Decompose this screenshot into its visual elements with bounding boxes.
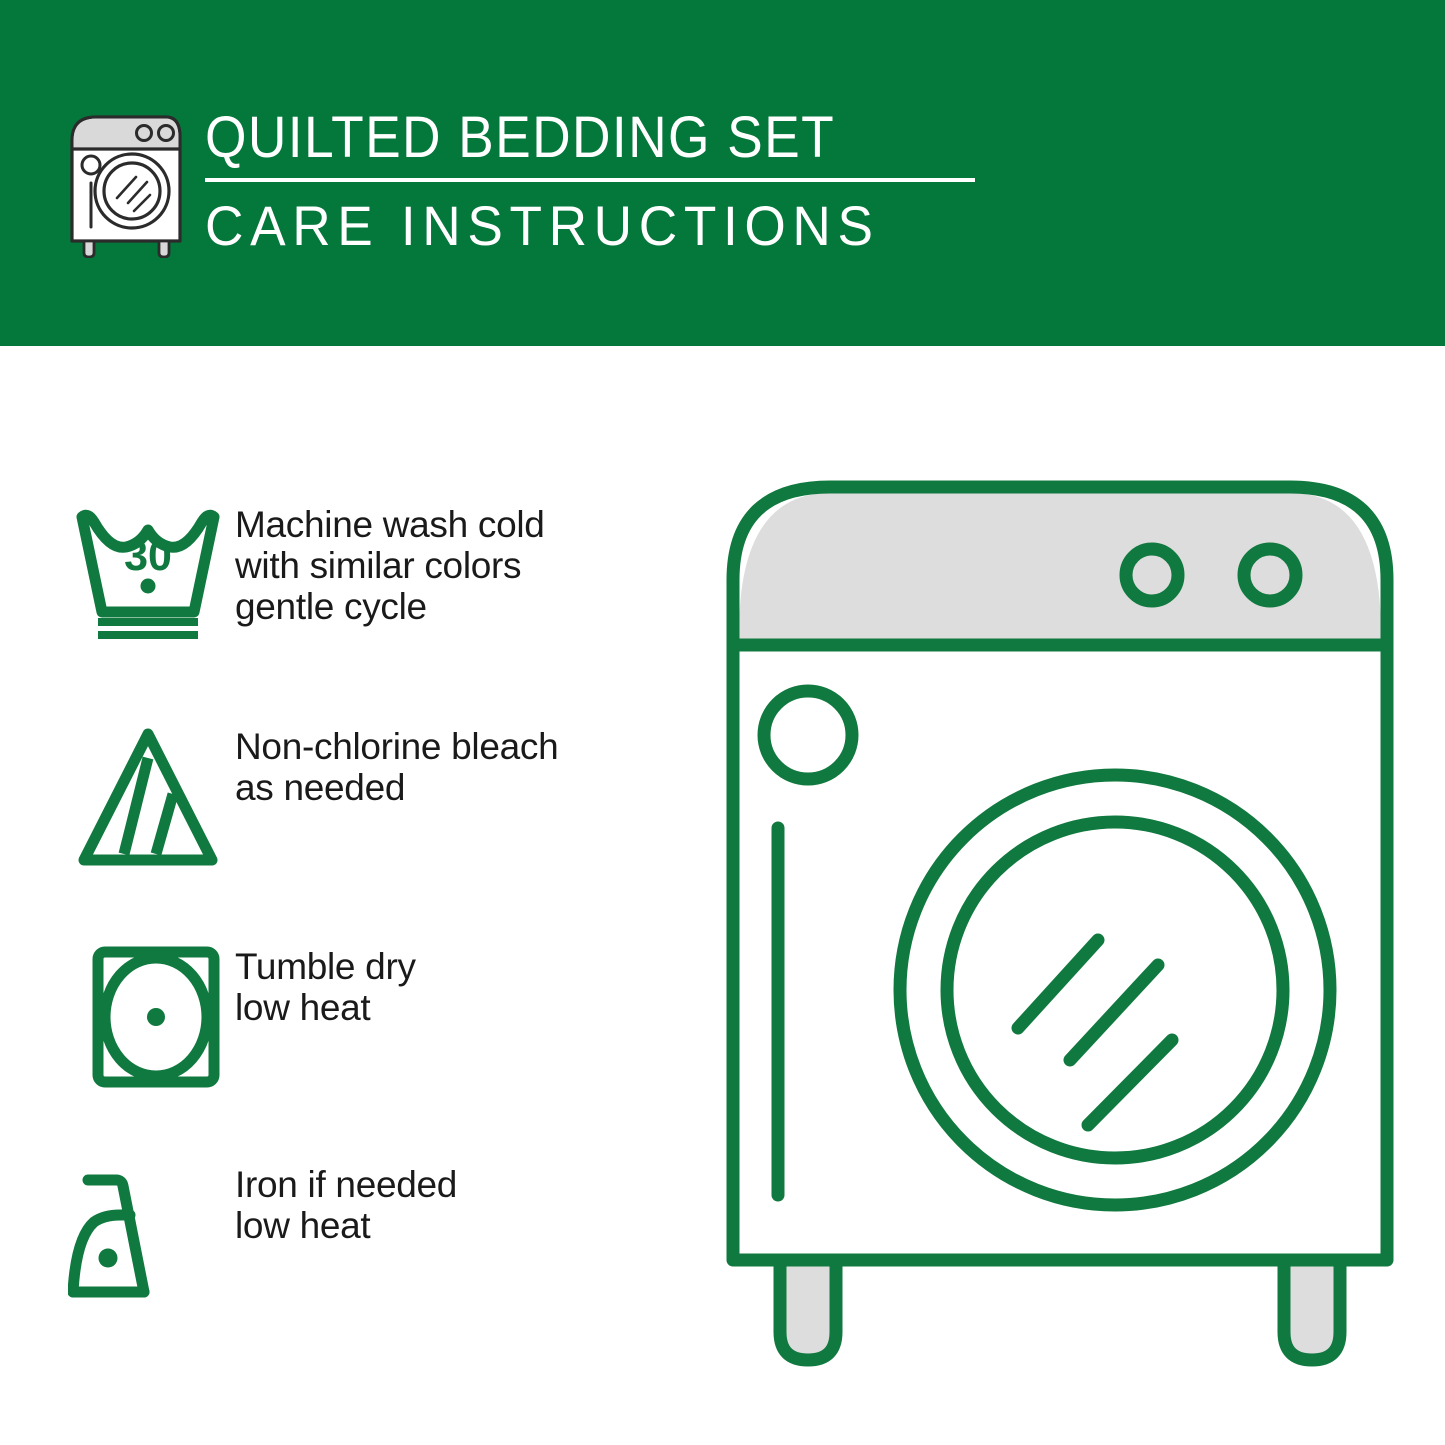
door-outer-ring <box>900 775 1330 1205</box>
care-text-line: Iron if needed <box>235 1164 700 1205</box>
door-reflection-line <box>1070 965 1158 1060</box>
leg-left <box>780 1260 836 1360</box>
door-inner-ring <box>947 822 1283 1158</box>
header-banner: QUILTED BEDDING SET CARE INSTRUCTIONS <box>0 0 1445 346</box>
header-text-block: QUILTED BEDDING SET CARE INSTRUCTIONS <box>205 102 995 258</box>
care-text-tumble-dry: Tumble dry low heat <box>235 942 700 1028</box>
care-row-bleach: Non-chlorine bleach as needed <box>60 722 700 872</box>
washing-machine-logo-icon <box>62 103 190 258</box>
page-subtitle: CARE INSTRUCTIONS <box>205 194 956 258</box>
svg-text:30: 30 <box>124 532 172 580</box>
tumble-dry-icon <box>60 942 235 1092</box>
care-text-line: Non-chlorine bleach <box>235 726 700 767</box>
care-text-line: as needed <box>235 767 700 808</box>
leg-right <box>1284 1260 1340 1360</box>
bleach-triangle-icon <box>60 722 235 872</box>
care-text-iron: Iron if needed low heat <box>235 1160 700 1246</box>
care-text-line: Tumble dry <box>235 946 700 987</box>
care-text-line: low heat <box>235 1205 700 1246</box>
care-text-line: with similar colors <box>235 545 700 586</box>
door-reflection-line <box>1088 1040 1172 1125</box>
care-text-line: gentle cycle <box>235 586 700 627</box>
care-text-bleach: Non-chlorine bleach as needed <box>235 722 700 808</box>
page-title: QUILTED BEDDING SET <box>205 102 932 174</box>
care-text-line: low heat <box>235 987 700 1028</box>
detergent-port <box>764 691 852 779</box>
care-row-machine-wash: 30 Machine wash cold with similar colors… <box>60 500 700 640</box>
control-panel-fill <box>739 493 1381 645</box>
care-instructions-infographic: QUILTED BEDDING SET CARE INSTRUCTIONS 30… <box>0 0 1445 1445</box>
care-text-machine-wash: Machine wash cold with similar colors ge… <box>235 500 700 627</box>
care-row-tumble-dry: Tumble dry low heat <box>60 942 700 1092</box>
wash-tub-30-icon: 30 <box>60 500 235 640</box>
title-divider <box>205 178 975 182</box>
door-reflection-line <box>1018 940 1098 1028</box>
care-row-iron: Iron if needed low heat <box>60 1160 700 1310</box>
washing-machine-illustration <box>720 470 1400 1370</box>
care-text-line: Machine wash cold <box>235 504 700 545</box>
iron-icon <box>60 1160 235 1310</box>
